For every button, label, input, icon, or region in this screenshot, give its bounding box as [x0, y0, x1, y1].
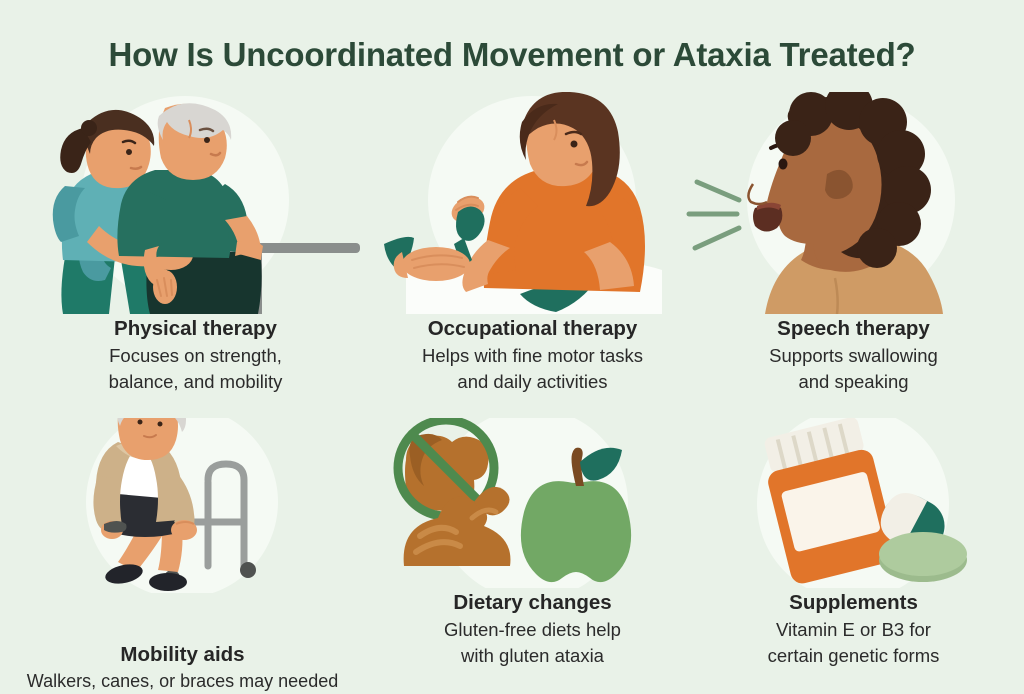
card-title: Occupational therapy — [362, 316, 703, 342]
card-description: Supports swallowing and speaking — [683, 343, 1024, 396]
card-description: Gluten-free diets help with gluten ataxi… — [362, 617, 703, 670]
mobility-aids-art — [12, 418, 353, 640]
dietary-changes-illustration — [362, 418, 703, 588]
card-supplements: Supplements Vitamin E or B3 for certain … — [683, 418, 1024, 669]
card-title: Supplements — [683, 590, 1024, 616]
speech-therapy-illustration — [683, 92, 1024, 314]
card-description: Vitamin E or B3 for certain genetic form… — [683, 617, 1024, 670]
card-description: Helps with fine motor tasks and daily ac… — [362, 343, 703, 396]
card-title: Dietary changes — [362, 590, 703, 616]
physical-therapy-art — [25, 92, 366, 314]
card-mobility-aids: Mobility aids Walkers, canes, or braces … — [12, 418, 353, 694]
card-title: Mobility aids — [12, 642, 353, 668]
card-occupational-therapy: Occupational therapy Helps with fine mot… — [362, 92, 703, 395]
card-description: Focuses on strength, balance, and mobili… — [25, 343, 366, 396]
supplements-art — [683, 418, 1024, 588]
card-title: Speech therapy — [683, 316, 1024, 342]
card-speech-therapy: Speech therapy Supports swallowing and s… — [683, 92, 1024, 395]
physical-therapy-illustration — [25, 92, 366, 314]
mobility-aids-illustration — [12, 418, 353, 593]
supplements-illustration — [683, 418, 1024, 588]
occupational-therapy-art — [362, 92, 703, 314]
dietary-changes-art — [362, 418, 703, 588]
page-title: How Is Uncoordinated Movement or Ataxia … — [0, 36, 1024, 74]
infographic-root: How Is Uncoordinated Movement or Ataxia … — [0, 0, 1024, 683]
occupational-therapy-illustration — [362, 92, 703, 314]
card-description: Walkers, canes, or braces may needed — [12, 669, 353, 694]
speech-therapy-art — [683, 92, 1024, 314]
card-dietary-changes: Dietary changes Gluten-free diets help w… — [362, 418, 703, 669]
card-physical-therapy: Physical therapy Focuses on strength, ba… — [25, 92, 366, 395]
card-title: Physical therapy — [25, 316, 366, 342]
